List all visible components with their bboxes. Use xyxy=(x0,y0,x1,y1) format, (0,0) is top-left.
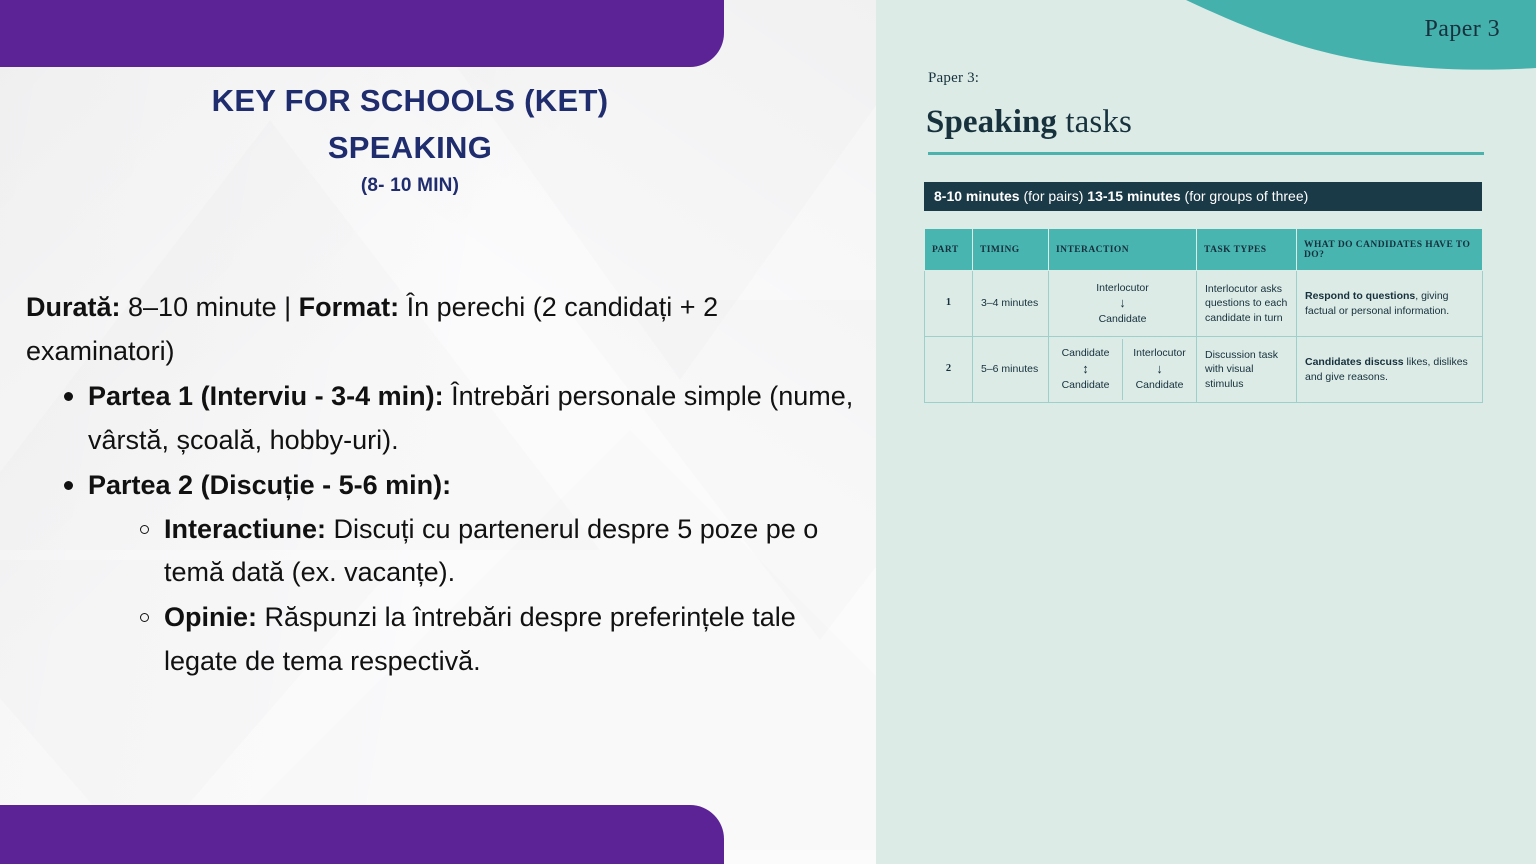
table-row: 2 5–6 minutes Candidate ↕ Candidate Inte… xyxy=(925,337,1483,403)
cell-interaction: Candidate ↕ Candidate Interlocutor ↓ Can… xyxy=(1049,337,1197,403)
paper-corner-tag: Paper 3 xyxy=(1425,16,1500,43)
interaction-top-role: Candidate xyxy=(1062,347,1110,359)
right-reference-panel: Paper 3 Paper 3: Speaking tasks 8-10 min… xyxy=(876,0,1536,864)
panel-eyebrow-label: Paper 3: xyxy=(928,70,979,87)
down-arrow-icon: ↓ xyxy=(1057,295,1188,311)
column-header-timing: TIMING xyxy=(973,229,1049,271)
lead-label-format: Format: xyxy=(299,292,400,322)
speaking-tasks-table: PART TIMING INTERACTION TASK TYPES WHAT … xyxy=(924,228,1483,403)
list-item: Partea 2 (Discuție - 5-6 min): Interacti… xyxy=(60,464,858,684)
timing-banner: 8-10 minutes (for pairs) 13-15 minutes (… xyxy=(924,182,1482,211)
table-row: 1 3–4 minutes Interlocutor ↓ Candidate I… xyxy=(925,271,1483,337)
page-title-line2: SPEAKING xyxy=(0,125,820,172)
cell-part-number: 2 xyxy=(925,337,973,403)
candidate-task-bold: Candidates discuss xyxy=(1305,356,1404,368)
cell-timing: 3–4 minutes xyxy=(973,271,1049,337)
up-down-arrow-icon: ↕ xyxy=(1053,361,1118,377)
bullet-label: Partea 2 (Discuție - 5-6 min): xyxy=(88,470,451,500)
cell-timing: 5–6 minutes xyxy=(973,337,1049,403)
interaction-top-role: Interlocutor xyxy=(1133,347,1186,359)
cell-task-types: Discussion task with visual stimulus xyxy=(1197,337,1297,403)
panel-heading-rule xyxy=(928,152,1484,155)
interaction-top-role: Interlocutor xyxy=(1096,282,1149,294)
sub-bullet-label: Opinie: xyxy=(164,602,257,632)
interaction-bottom-role: Candidate xyxy=(1062,379,1110,391)
table-header-row: PART TIMING INTERACTION TASK TYPES WHAT … xyxy=(925,229,1483,271)
interaction-sub-cell-b: Interlocutor ↓ Candidate xyxy=(1123,339,1196,401)
bullet-list: Partea 1 (Interviu - 3-4 min): Întrebări… xyxy=(26,375,858,683)
sub-bullet-text: Răspunzi la întrebări despre preferințel… xyxy=(164,602,796,676)
panel-heading-strong: Speaking xyxy=(926,104,1057,140)
cell-candidate-task: Candidates discuss likes, dislikes and g… xyxy=(1297,337,1483,403)
interaction-bottom-role: Candidate xyxy=(1099,313,1147,325)
column-header-candidate-task: WHAT DO CANDIDATES HAVE TO DO? xyxy=(1297,229,1483,271)
panel-heading-light: tasks xyxy=(1057,104,1132,140)
page-title-duration: (8- 10 MIN) xyxy=(0,175,820,197)
body-copy: Durată: 8–10 minute | Format: În perechi… xyxy=(26,286,858,685)
column-header-task-types: TASK TYPES xyxy=(1197,229,1297,271)
list-item: Opinie: Răspunzi la întrebări despre pre… xyxy=(138,596,858,683)
lead-label-durata: Durată: xyxy=(26,292,121,322)
sub-bullet-label: Interactiune: xyxy=(164,514,326,544)
list-item: Partea 1 (Interviu - 3-4 min): Întrebări… xyxy=(60,375,858,462)
sub-bullet-list: Interactiune: Discuți cu partenerul desp… xyxy=(88,508,858,684)
slide-title-block: KEY FOR SCHOOLS (KET) SPEAKING (8- 10 MI… xyxy=(0,78,820,197)
timing-groups-value: 13-15 minutes xyxy=(1087,188,1180,204)
slide-root: KEY FOR SCHOOLS (KET) SPEAKING (8- 10 MI… xyxy=(0,0,1536,864)
list-item: Interactiune: Discuți cu partenerul desp… xyxy=(138,508,858,595)
lead-text-durata: 8–10 minute | xyxy=(121,292,299,322)
interaction-bottom-role: Candidate xyxy=(1136,379,1184,391)
cell-part-number: 1 xyxy=(925,271,973,337)
panel-heading: Speaking tasks xyxy=(926,104,1132,141)
timing-pairs-value: 8-10 minutes xyxy=(934,188,1020,204)
lead-paragraph: Durată: 8–10 minute | Format: În perechi… xyxy=(26,286,858,373)
cell-candidate-task: Respond to questions, giving factual or … xyxy=(1297,271,1483,337)
timing-groups-label: (for groups of three) xyxy=(1181,188,1309,204)
column-header-part: PART xyxy=(925,229,973,271)
purple-bottom-bar xyxy=(0,805,724,864)
page-title-line1: KEY FOR SCHOOLS (KET) xyxy=(0,78,820,125)
down-arrow-icon: ↓ xyxy=(1127,361,1192,377)
column-header-interaction: INTERACTION xyxy=(1049,229,1197,271)
timing-pairs-label: (for pairs) xyxy=(1020,188,1088,204)
purple-top-bar xyxy=(0,0,724,67)
cell-task-types: Interlocutor asks questions to each cand… xyxy=(1197,271,1297,337)
candidate-task-bold: Respond to questions xyxy=(1305,290,1415,302)
interaction-sub-cell-a: Candidate ↕ Candidate xyxy=(1049,339,1123,401)
bullet-label: Partea 1 (Interviu - 3-4 min): xyxy=(88,381,444,411)
cell-interaction: Interlocutor ↓ Candidate xyxy=(1049,271,1197,337)
